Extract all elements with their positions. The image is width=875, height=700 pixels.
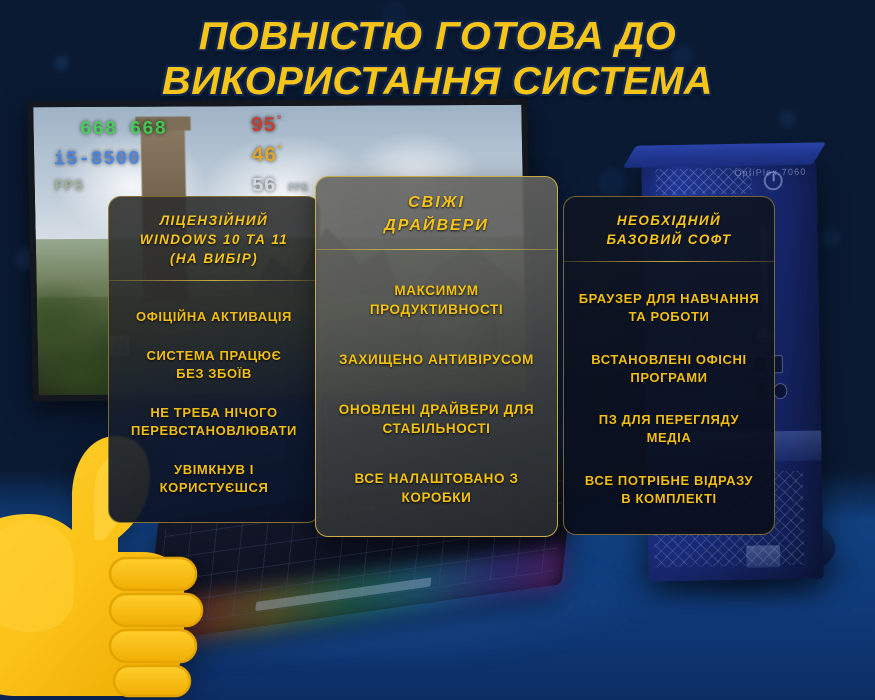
card-feature-item: ЗАХИЩЕНО АНТИВІРУСОМ [328,350,545,369]
card-feature-item: ВСЕ НАЛАШТОВАНО ЗКОРОБКИ [328,469,545,507]
card-header-line: ДРАЙВЕРИ [326,214,547,237]
pc-tower-sticker [746,545,780,568]
promo-stage: 668 668 i5-8500 FPS 95° 46° 56 FPS Створ… [0,0,875,700]
card-feature-item: ОНОВЛЕНІ ДРАЙВЕРИ ДЛЯСТАБІЛЬНОСТІ [328,400,545,438]
card-body: ОФІЦІЙНА АКТИВАЦІЯ СИСТЕМА ПРАЦЮЄБЕЗ ЗБО… [109,281,319,522]
card-feature-item: ВСТАНОВЛЕНІ ОФІСНІПРОГРАМИ [576,351,762,387]
pc-tower-top-panel [623,142,826,168]
card-header-line: WINDOWS 10 ТА 11 [119,230,309,249]
card-feature-item: ВСЕ ПОТРІБНЕ ВІДРАЗУВ КОМПЛЕКТІ [576,472,762,508]
card-header-line: (НА ВИБІР) [119,249,309,268]
feature-card-licensed-windows[interactable]: ЛІЦЕНЗІЙНИЙ WINDOWS 10 ТА 11 (НА ВИБІР) … [108,196,320,523]
card-feature-item: УВІМКНУВ І КОРИСТУЄШСЯ [121,461,307,497]
card-header-line: НЕОБХІДНИЙ [574,211,764,230]
card-header-line: БАЗОВИЙ СОФТ [574,230,764,249]
card-feature-item: НЕ ТРЕБА НІЧОГОПЕРЕВСТАНОВЛЮВАТИ [121,404,307,440]
feature-card-fresh-drivers[interactable]: СВІЖІ ДРАЙВЕРИ МАКСИМУМПРОДУКТИВНОСТІ ЗА… [315,176,558,537]
card-header-line: ЛІЦЕНЗІЙНИЙ [119,211,309,230]
card-feature-item: СИСТЕМА ПРАЦЮЄБЕЗ ЗБОЇВ [121,347,307,383]
card-header: ЛІЦЕНЗІЙНИЙ WINDOWS 10 ТА 11 (НА ВИБІР) [109,197,319,280]
card-header: НЕОБХІДНИЙ БАЗОВИЙ СОФТ [564,197,774,261]
card-feature-item: ОФІЦІЙНА АКТИВАЦІЯ [121,308,307,326]
pc-tower-headphone-jack [773,383,787,399]
card-header: СВІЖІ ДРАЙВЕРИ [316,177,557,249]
feature-card-base-software[interactable]: НЕОБХІДНИЙ БАЗОВИЙ СОФТ БРАУЗЕР ДЛЯ НАВЧ… [563,196,775,535]
card-feature-item: БРАУЗЕР ДЛЯ НАВЧАННЯТА РОБОТИ [576,290,762,326]
card-header-line: СВІЖІ [326,191,547,214]
card-feature-item: МАКСИМУМПРОДУКТИВНОСТІ [328,281,545,319]
card-feature-item: ПЗ ДЛЯ ПЕРЕГЛЯДУ МЕДІА [576,411,762,447]
card-body: БРАУЗЕР ДЛЯ НАВЧАННЯТА РОБОТИ ВСТАНОВЛЕН… [564,262,774,534]
card-body: МАКСИМУМПРОДУКТИВНОСТІ ЗАХИЩЕНО АНТИВІРУ… [316,250,557,536]
